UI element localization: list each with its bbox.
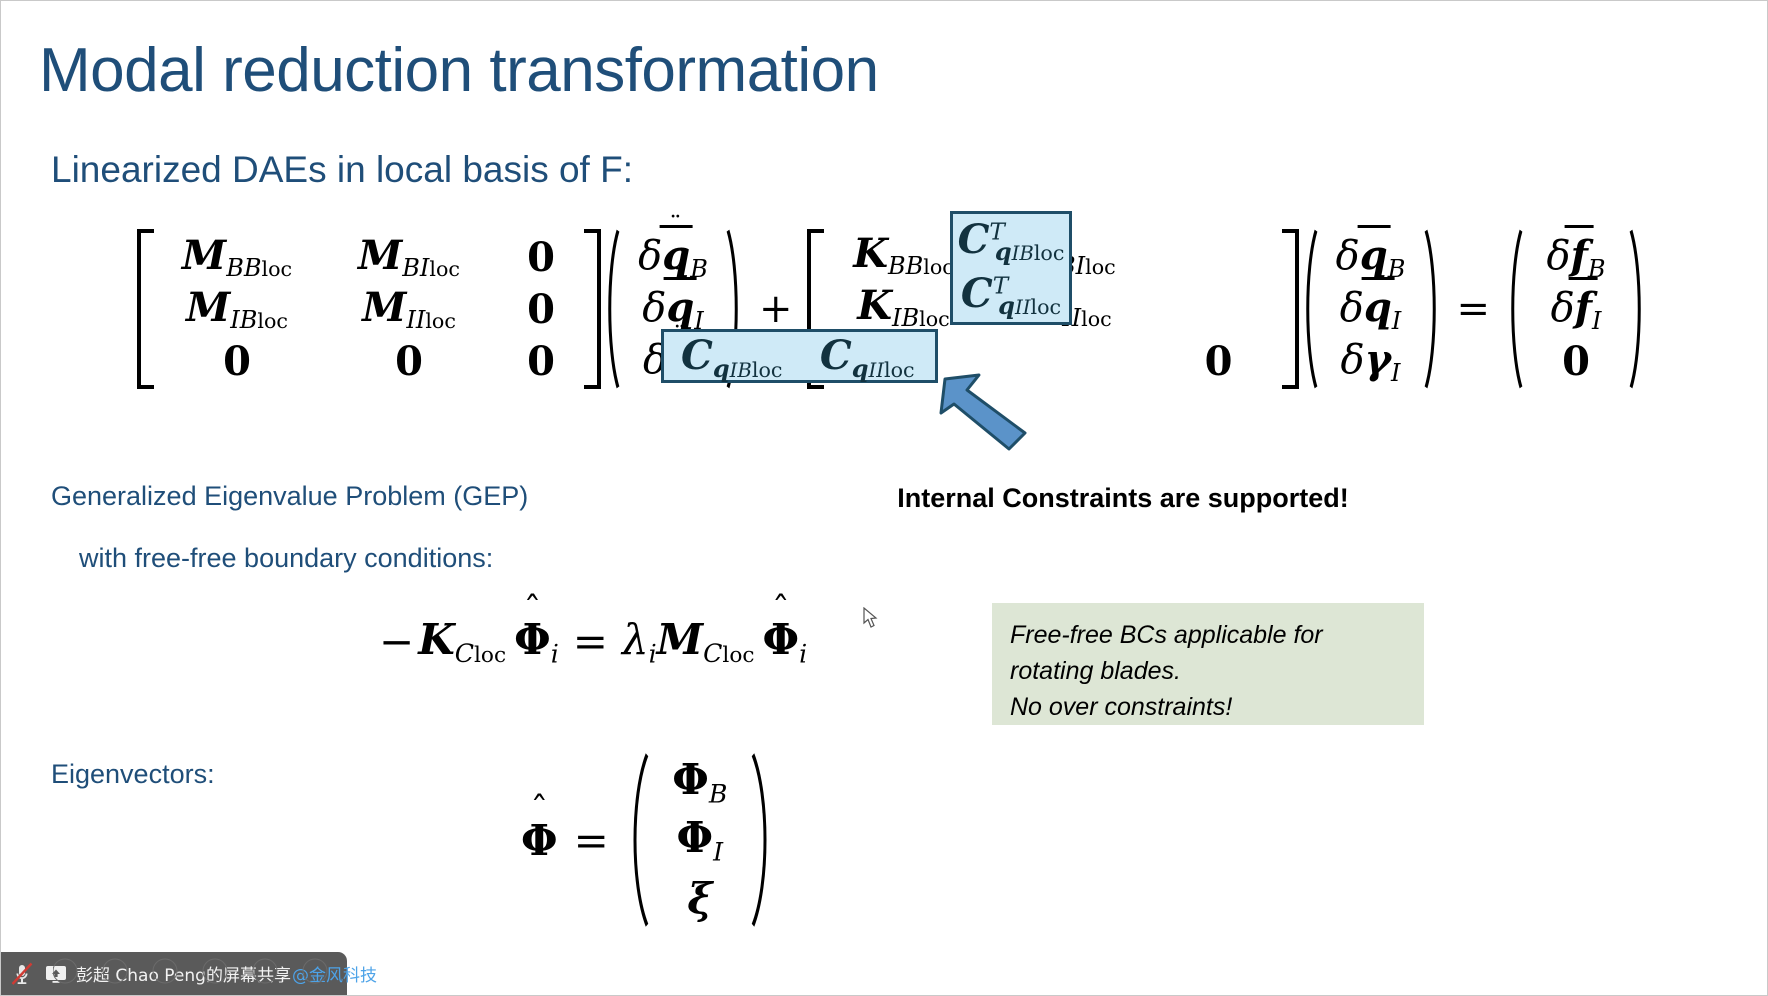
force-fb: δfB	[1547, 232, 1606, 283]
mass-cell-bb: MBBloc	[182, 232, 292, 283]
constraint-c-qib: CqIBloc	[681, 332, 782, 383]
force-fi: δfI	[1551, 284, 1602, 335]
mass-matrix-right-bracket	[587, 229, 601, 389]
mass-cell-bi: MBIloc	[358, 232, 460, 283]
stiff-cell-bb: KBBloc	[853, 230, 954, 281]
gep-phi-left: ˆΦi	[506, 615, 559, 668]
eigvec-xi: ξ	[687, 874, 712, 923]
microphone-muted-icon[interactable]	[9, 961, 35, 987]
disp-vector-left-paren	[1299, 229, 1319, 389]
accel-vector-left-paren	[601, 229, 621, 389]
stiff-cell-zero: 0	[1205, 338, 1233, 385]
mass-cell-row3-c3: 0	[527, 338, 555, 385]
disp-vector-right-paren	[1423, 229, 1443, 389]
free-free-callout: Free-free BCs applicable for rotating bl…	[992, 603, 1424, 725]
gep-mass: MCloc	[657, 615, 755, 668]
gep-label: Generalized Eigenvalue Problem (GEP)	[51, 481, 528, 512]
force-zero: 0	[1562, 338, 1590, 385]
callout-line-1: Free-free BCs applicable for	[1010, 617, 1406, 653]
gep-minus: −	[379, 617, 418, 666]
disp-qb: δqB	[1336, 232, 1406, 283]
gep-equals: =	[559, 617, 622, 666]
page-title: Modal reduction transformation	[39, 35, 879, 106]
subtitle: Linearized DAEs in local basis of F:	[51, 149, 633, 191]
eigvec-equals: =	[558, 816, 625, 865]
constraint-c-qii-transpose: CTqIIloc	[961, 270, 1061, 321]
eigvec-phi-hat: ˆΦ	[521, 816, 558, 865]
constraint-c-qib-transpose: CTqIBloc	[958, 216, 1065, 267]
disp-gamma-i: δγI	[1341, 336, 1401, 387]
mouse-pointer-icon	[863, 607, 879, 634]
constraint-row-highlight: CqIBloc CqIIloc	[661, 329, 938, 383]
gep-sublabel: with free-free boundary conditions:	[79, 543, 493, 574]
plus-operator: +	[745, 286, 807, 332]
mass-cell-row3-c1: 0	[223, 338, 251, 385]
callout-line-3: No over constraints!	[1010, 689, 1406, 725]
eigvec-left-paren	[625, 753, 651, 927]
mass-cell-b-zero: 0	[527, 234, 555, 281]
stiff-cell-ib: KIBloc	[857, 282, 949, 333]
eigvec-phi-i: ΦI	[677, 813, 724, 866]
constraint-column-highlight: CTqIBloc CTqIIloc	[950, 211, 1072, 325]
eigenvector-equation: ˆΦ = ΦB ΦI ξ	[521, 753, 775, 927]
force-vector: δfB δfI 0	[1524, 231, 1628, 387]
equals-operator: =	[1443, 286, 1505, 332]
disp-qi: δqI	[1340, 284, 1402, 335]
eigenvector-components: ΦB ΦI ξ	[651, 753, 749, 927]
callout-line-2: rotating blades.	[1010, 653, 1406, 689]
slide-canvas: Modal reduction transformation Linearize…	[0, 0, 1768, 996]
eigenvectors-label: Eigenvectors:	[51, 759, 215, 790]
screen-share-icon[interactable]	[44, 962, 68, 986]
force-vector-left-paren	[1504, 229, 1524, 389]
gep-lambda: λi	[622, 615, 657, 668]
mass-matrix-left-bracket	[137, 229, 151, 389]
eigvec-right-paren	[749, 753, 775, 927]
mass-cell-row3-c2: 0	[395, 338, 423, 385]
constraint-c-qii: CqIIloc	[820, 332, 915, 383]
internal-constraints-note: Internal Constraints are supported!	[897, 483, 1349, 514]
mass-cell-i-zero: 0	[527, 286, 555, 333]
displacement-vector: δqB δqI δγI	[1319, 231, 1423, 387]
share-company-tag: @金风科技	[292, 961, 377, 986]
eigvec-phi-b: ΦB	[672, 755, 727, 808]
stiffness-matrix-right-bracket	[1285, 229, 1299, 389]
gep-phi-right: ˆΦi	[755, 615, 808, 668]
share-status-text: 彭超 Chao Peng的屏幕共享	[76, 961, 291, 986]
force-vector-right-paren	[1628, 229, 1648, 389]
callout-arrow-icon	[939, 371, 1031, 456]
mass-cell-ii: MIIloc	[362, 284, 456, 335]
mass-cell-ib: MIBloc	[186, 284, 288, 335]
gep-equation: − KCloc ˆΦi = λi MCloc ˆΦi	[379, 615, 807, 668]
gep-stiffness: KCloc	[418, 615, 506, 668]
screen-share-taskbar[interactable]: 彭超 Chao Peng的屏幕共享 @金风科技	[1, 952, 347, 995]
mass-matrix: MBBloc MBIloc 0 MIBloc MIIloc 0 0 0 0	[151, 231, 587, 387]
